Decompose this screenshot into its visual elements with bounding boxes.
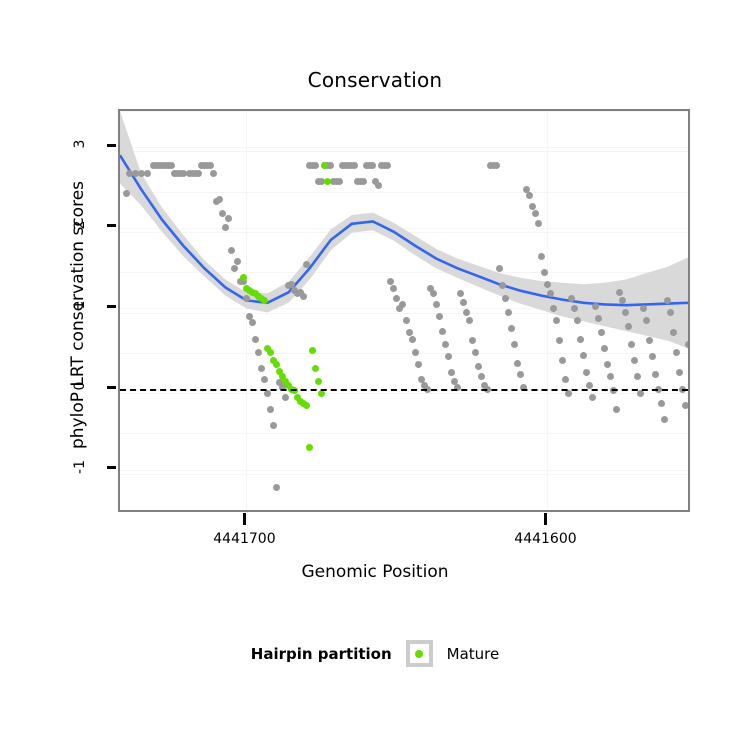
data-point-other [526,192,533,199]
data-point-mature [321,162,328,169]
data-point-other [577,336,584,343]
page-title: Conservation [0,68,750,92]
data-point-other [369,162,376,169]
x-axis-title: Genomic Position [0,562,750,582]
data-point-other [270,422,277,429]
data-point-other [571,305,578,312]
data-point-other [532,210,539,217]
data-point-other [562,376,569,383]
legend-dot-icon [415,650,423,658]
data-point-other [384,162,391,169]
data-point-other [123,190,130,197]
data-point-other [466,317,473,324]
data-point-other [550,305,557,312]
data-point-other [496,265,503,272]
data-point-other [409,336,416,343]
y-tick-label: -1 [72,447,88,487]
data-point-other [267,406,274,413]
data-point-other [403,317,410,324]
data-point-other [541,269,548,276]
conservation-plot: Conservation phyloP LRT conservation sco… [0,0,750,750]
data-point-other [682,402,689,409]
y-tick-mark [107,466,116,469]
data-point-other [412,349,419,356]
y-tick-mark [107,144,116,147]
data-point-other [442,341,449,348]
data-point-other [415,361,422,368]
y-tick-mark [107,224,116,227]
data-point-other [625,323,632,330]
data-point-other [273,484,280,491]
x-tick-label: 4441700 [184,531,304,547]
data-point-other [595,315,602,322]
data-point-other [514,360,521,367]
data-point-other [282,394,289,401]
legend-label-mature: Mature [447,645,500,663]
plot-panel [118,109,690,512]
data-point-other [508,325,515,332]
y-tick-mark [107,386,116,389]
data-point-other [231,265,238,272]
data-point-other [439,328,446,335]
data-point-other [327,162,334,169]
data-point-other [144,170,151,177]
data-point-mature [306,444,313,451]
x-tick-mark [544,513,547,525]
data-point-other [538,253,545,260]
data-point-other [580,352,587,359]
data-point-other [469,337,476,344]
data-point-other [436,313,443,320]
smooth-fit-overlay [120,111,690,512]
data-point-other [463,309,470,316]
data-point-other [685,341,690,348]
y-tick-label: 3 [72,124,88,164]
data-point-other [553,317,560,324]
data-point-other [460,299,467,306]
y-tick-label: 0 [72,366,88,406]
data-point-other [252,336,259,343]
data-point-other [475,363,482,370]
zero-reference-line [120,389,688,391]
data-point-mature [315,378,322,385]
data-point-other [303,261,310,268]
data-point-mature [309,347,316,354]
data-point-mature [303,402,310,409]
data-point-other [505,309,512,316]
data-point-other [445,353,452,360]
data-point-other [312,162,319,169]
data-point-other [517,371,524,378]
data-point-other [225,215,232,222]
data-point-other [586,382,593,389]
x-tick-mark [243,513,246,525]
data-point-other [228,247,235,254]
legend-key-mature[interactable] [406,640,433,667]
legend-title: Hairpin partition [251,645,392,663]
data-point-other [544,281,551,288]
data-point-other [168,162,175,169]
data-point-other [613,406,620,413]
data-point-other [213,198,220,205]
data-point-other [433,301,440,308]
data-point-other [351,162,358,169]
data-point-other [493,162,500,169]
data-point-other [207,162,214,169]
data-point-other [261,376,268,383]
legend: Hairpin partition Mature [0,640,750,667]
data-point-other [300,293,307,300]
data-point-other [472,349,479,356]
data-point-other [529,203,536,210]
y-tick-label: 2 [72,205,88,245]
y-tick-mark [107,305,116,308]
confidence-ribbon [120,111,689,349]
y-tick-label: 1 [72,285,88,325]
x-tick-label: 4441600 [485,531,605,547]
data-point-other [589,394,596,401]
data-point-mature [261,297,268,304]
